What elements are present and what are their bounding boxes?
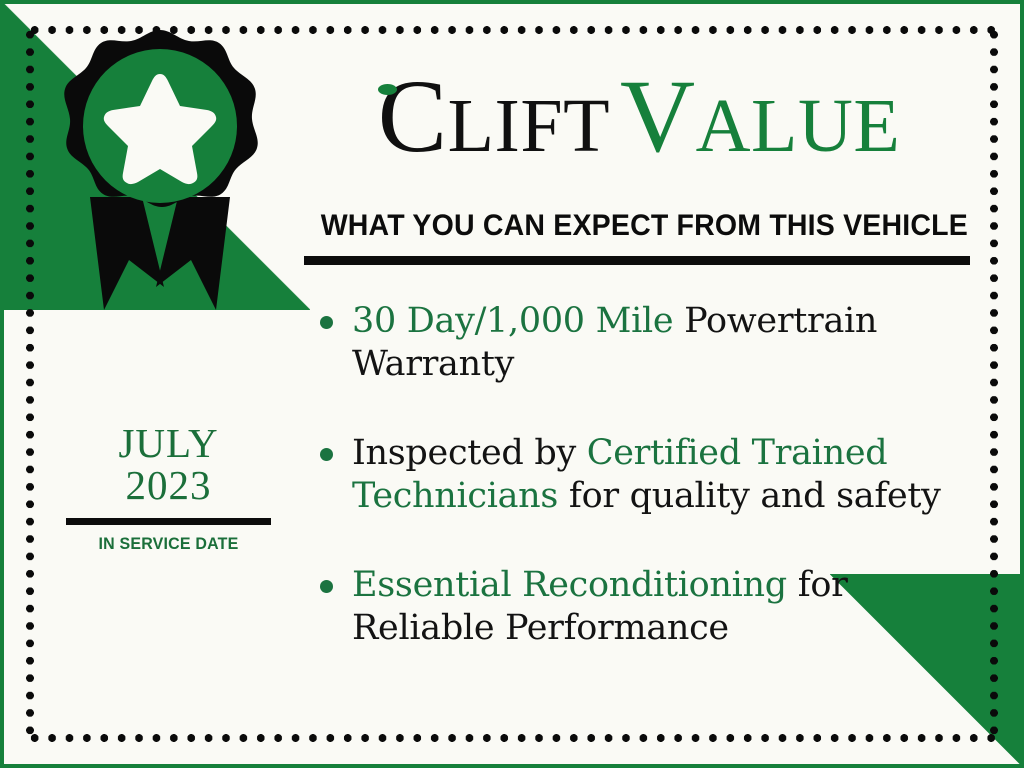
dotted-border-right <box>990 26 998 742</box>
benefit-text-segment: Essential Reconditioning <box>352 565 787 605</box>
benefits-list: 30 Day/1,000 Mile Powertrain WarrantyIns… <box>304 300 984 650</box>
bullet-dot-icon <box>320 580 333 593</box>
bullet-dot-icon <box>320 448 333 461</box>
brand-clift-initial: C <box>378 59 448 174</box>
benefit-list-item: Essential Reconditioning for Reliable Pe… <box>304 564 984 650</box>
benefit-text-segment: for quality and safety <box>558 476 941 516</box>
brand-value-initial: V <box>620 59 696 174</box>
bullet-dot-icon <box>320 316 333 329</box>
benefit-text-segment: Inspected by <box>352 433 587 473</box>
clift-value-badge-card: CLIFT VALUE WHAT YOU CAN EXPECT FROM THI… <box>0 0 1024 768</box>
award-rosette-star-icon <box>52 22 268 322</box>
in-service-year: 2023 <box>66 464 271 506</box>
page-title: CLIFT VALUE <box>304 58 974 176</box>
brand-value-rest: ALUE <box>696 84 901 168</box>
brand-clift-rest: LIFT <box>448 84 610 168</box>
in-service-month: JULY <box>66 422 271 464</box>
subtitle-divider <box>304 256 970 265</box>
brand-word-clift: CLIFT <box>378 58 610 185</box>
in-service-divider <box>66 518 271 525</box>
benefit-list-item: 30 Day/1,000 Mile Powertrain Warranty <box>304 300 984 386</box>
dotted-border-bottom <box>26 734 998 742</box>
dotted-border-left <box>26 26 34 742</box>
ribbon-tails-icon <box>90 197 230 310</box>
benefit-text-segment: 30 Day/1,000 Mile <box>352 301 673 341</box>
subtitle-text: WHAT YOU CAN EXPECT FROM THIS VEHICLE <box>321 209 956 243</box>
green-tittle-dot-icon <box>378 84 397 95</box>
in-service-caption: IN SERVICE DATE <box>72 534 265 554</box>
benefit-list-item: Inspected by Certified Trained Technicia… <box>304 432 984 518</box>
in-service-date-block: JULY 2023 IN SERVICE DATE <box>66 422 271 554</box>
brand-word-value: VALUE <box>620 58 900 185</box>
